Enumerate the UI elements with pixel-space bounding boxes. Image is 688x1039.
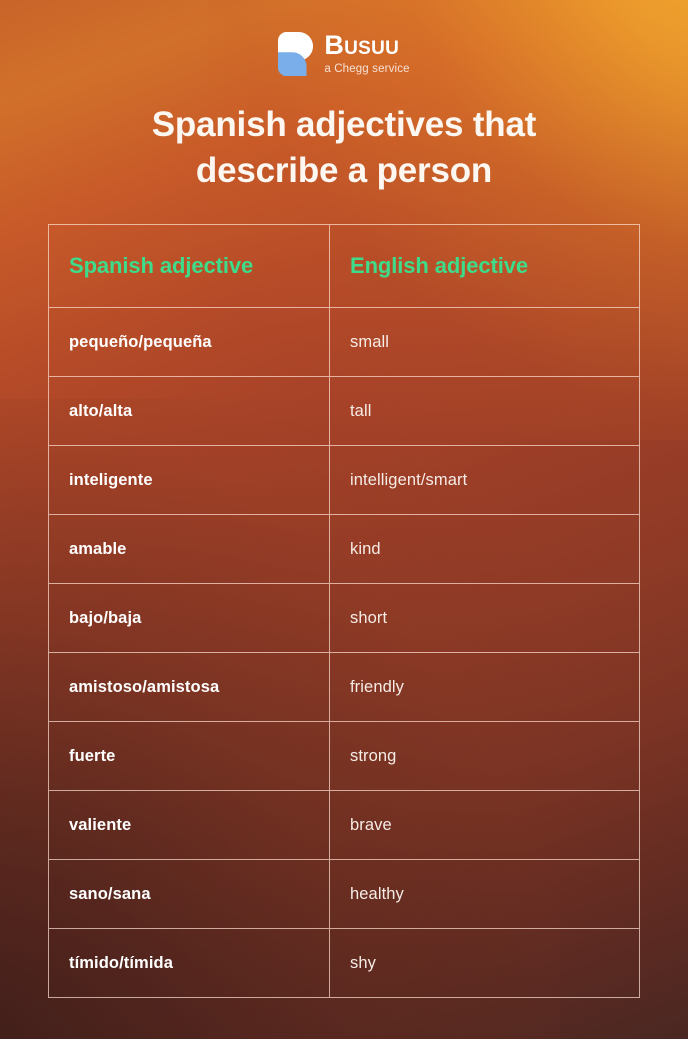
poster-canvas: Busuu a Chegg service Spanish adjectives… [0,0,688,1039]
cell-english: healthy [330,860,639,928]
table-row: tímido/tímida shy [49,929,639,997]
cell-english: shy [330,929,639,997]
brand-lockup: Busuu a Chegg service [0,0,688,76]
brand-text: Busuu a Chegg service [324,32,409,76]
cell-spanish: amistoso/amistosa [49,653,330,721]
column-header-spanish: Spanish adjective [49,225,330,307]
cell-english: short [330,584,639,652]
cell-english: tall [330,377,639,445]
table-row: bajo/baja short [49,584,639,653]
brand-name: Busuu [324,32,399,59]
page-title-line-1: Spanish adjectives that [152,105,536,144]
table-row: pequeño/pequeña small [49,308,639,377]
table-row: alto/alta tall [49,377,639,446]
cell-spanish: bajo/baja [49,584,330,652]
cell-spanish: pequeño/pequeña [49,308,330,376]
cell-english: intelligent/smart [330,446,639,514]
brand-tagline: a Chegg service [324,64,409,76]
table-row: inteligente intelligent/smart [49,446,639,515]
cell-spanish: tímido/tímida [49,929,330,997]
column-header-english: English adjective [330,225,639,307]
cell-english: friendly [330,653,639,721]
table-row: fuerte strong [49,722,639,791]
cell-spanish: fuerte [49,722,330,790]
cell-spanish: amable [49,515,330,583]
cell-spanish: sano/sana [49,860,330,928]
cell-spanish: inteligente [49,446,330,514]
adjectives-table: Spanish adjective English adjective pequ… [48,224,640,998]
cell-english: small [330,308,639,376]
cell-english: strong [330,722,639,790]
page-title: Spanish adjectives thatdescribe a person [0,102,688,194]
cell-spanish: alto/alta [49,377,330,445]
table-row: valiente brave [49,791,639,860]
cell-english: kind [330,515,639,583]
table-row: amable kind [49,515,639,584]
table-header-row: Spanish adjective English adjective [49,225,639,308]
table-row: amistoso/amistosa friendly [49,653,639,722]
poster-content: Busuu a Chegg service Spanish adjectives… [0,0,688,1039]
busuu-b-logo-icon [278,32,313,76]
page-title-line-2: describe a person [196,151,492,190]
cell-english: brave [330,791,639,859]
table-row: sano/sana healthy [49,860,639,929]
cell-spanish: valiente [49,791,330,859]
